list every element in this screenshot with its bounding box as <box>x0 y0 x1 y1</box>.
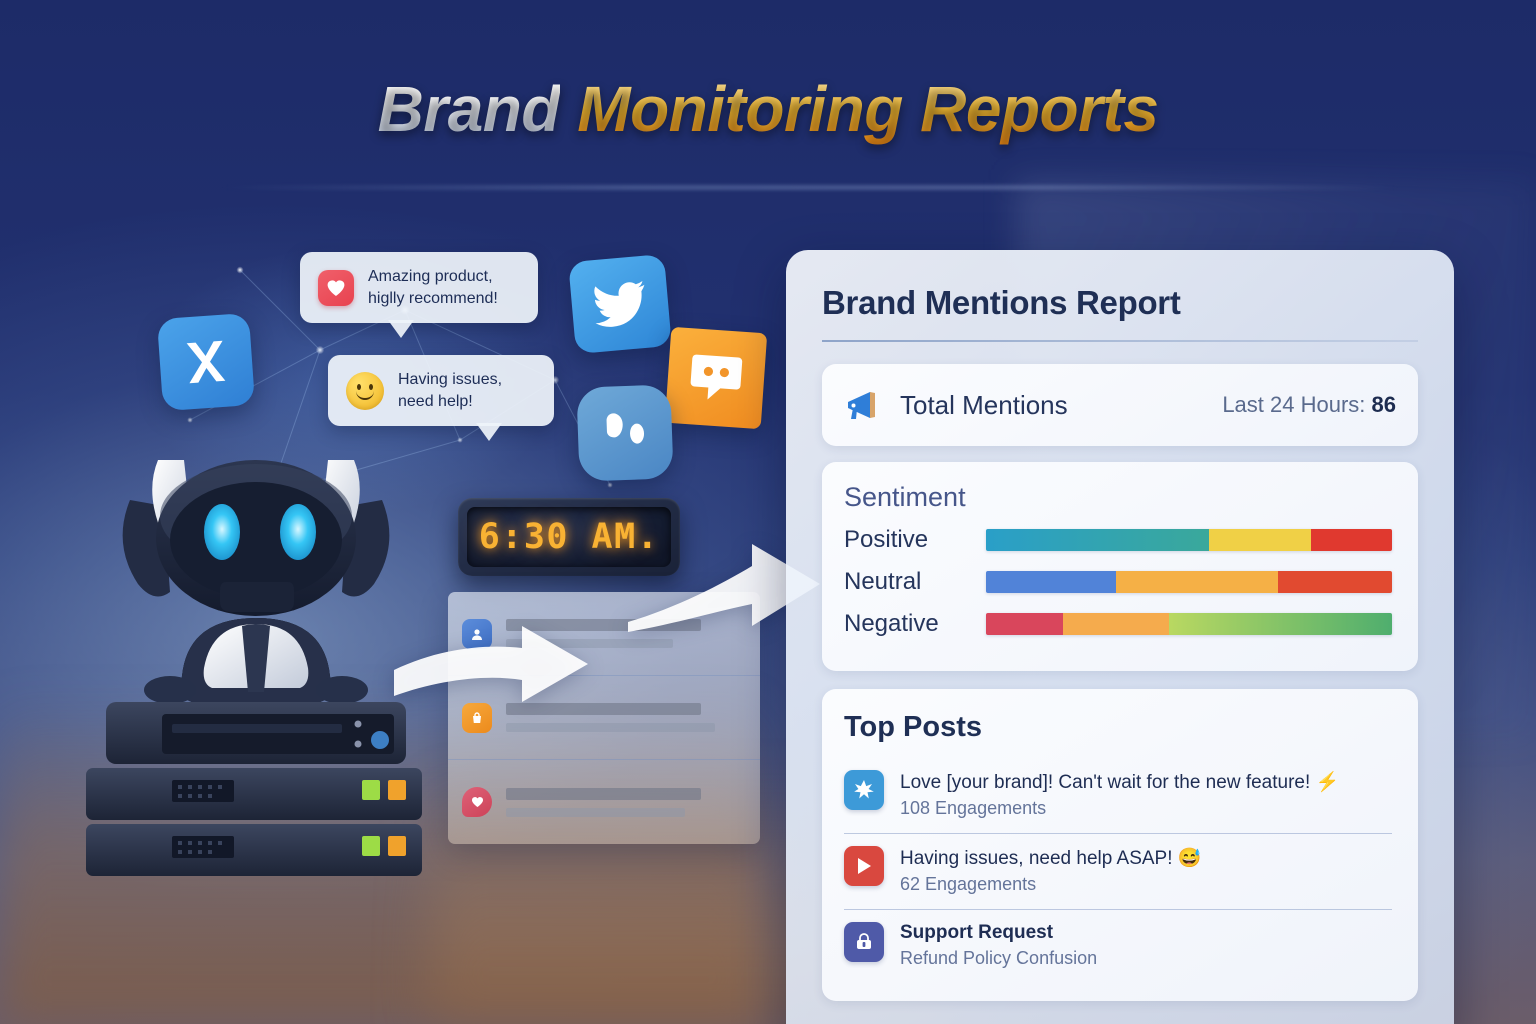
top-posts-card: Top Posts Love [your brand]! Can't wait … <box>822 689 1418 1001</box>
sentiment-bar-segment <box>1311 529 1392 551</box>
sentiment-bar-segment <box>1209 529 1311 551</box>
speech-bubble-issue: Having issues, need help! <box>328 355 554 426</box>
brand-mentions-report-panel: Brand Mentions Report Total Mentions Las… <box>786 250 1454 1024</box>
sentiment-label: Neutral <box>844 568 968 596</box>
feed-skeleton <box>506 788 744 817</box>
top-post-engagements: 108 Engagements <box>900 798 1339 819</box>
sentiment-bar <box>986 613 1392 635</box>
total-mentions-card[interactable]: Total Mentions Last 24 Hours: 86 <box>822 364 1418 446</box>
sentiment-label: Positive <box>844 526 968 554</box>
sentiment-bar-segment <box>986 613 1063 635</box>
play-icon <box>844 846 884 886</box>
heart-pin-icon <box>462 787 492 817</box>
x-social-icon[interactable] <box>157 313 255 411</box>
top-post-engagements: Refund Policy Confusion <box>900 948 1097 969</box>
total-mentions-value: Last 24 Hours: 86 <box>1222 392 1396 418</box>
support-icon <box>844 922 884 962</box>
sentiment-label: Negative <box>844 610 968 638</box>
sentiment-card: Sentiment PositiveNeutralNegative <box>822 462 1418 671</box>
sparkle-icon <box>844 770 884 810</box>
top-posts-list: Love [your brand]! Can't wait for the ne… <box>844 758 1392 983</box>
background-horizon-glow <box>220 186 1400 189</box>
top-post-engagements: 62 Engagements <box>900 874 1201 895</box>
sentiment-bar-segment <box>986 529 1209 551</box>
feed-row[interactable] <box>448 760 760 844</box>
bubble-tail <box>388 320 414 338</box>
top-post-text: Having issues, need help ASAP! 😅 <box>900 846 1201 870</box>
page-title-word-2: Monitoring Reports <box>577 73 1158 145</box>
messenger-icon <box>596 407 654 459</box>
twitter-bird-icon <box>590 278 650 331</box>
poster-canvas: Brand Monitoring Reports <box>0 0 1536 1024</box>
speech-bubble-positive: Amazing product, higlly recommend! <box>300 252 538 323</box>
total-mentions-count: 86 <box>1372 392 1396 417</box>
sentiment-bar-segment <box>986 571 1116 593</box>
heart-icon <box>318 270 354 306</box>
report-divider <box>822 340 1418 342</box>
robot-server-illustration <box>86 440 446 880</box>
chat-social-icon[interactable] <box>665 327 767 429</box>
bubble-tail <box>476 423 502 441</box>
smiley-icon <box>346 372 384 410</box>
sentiment-bar <box>986 571 1392 593</box>
page-title: Brand Monitoring Reports <box>0 72 1536 146</box>
sentiment-row-negative: Negative <box>844 603 1392 645</box>
top-post-row[interactable]: Support RequestRefund Policy Confusion <box>844 910 1392 983</box>
sentiment-rows: PositiveNeutralNegative <box>844 519 1392 645</box>
x-glyph-icon <box>178 334 234 390</box>
sentiment-bar-segment <box>1278 571 1392 593</box>
top-post-row[interactable]: Having issues, need help ASAP! 😅62 Engag… <box>844 834 1392 910</box>
top-post-body: Love [your brand]! Can't wait for the ne… <box>900 770 1339 819</box>
top-post-text: Love [your brand]! Can't wait for the ne… <box>900 770 1339 794</box>
sentiment-row-positive: Positive <box>844 519 1392 561</box>
speech-bubble-positive-text: Amazing product, higlly recommend! <box>368 266 498 309</box>
twitter-social-icon[interactable] <box>568 254 672 354</box>
megaphone-icon <box>844 388 884 422</box>
speech-bubble-issue-text: Having issues, need help! <box>398 369 502 412</box>
chat-bubble-icon <box>685 348 747 408</box>
sentiment-title: Sentiment <box>844 482 1392 513</box>
top-post-body: Support RequestRefund Policy Confusion <box>900 922 1097 969</box>
sentiment-bar <box>986 529 1392 551</box>
total-mentions-label: Total Mentions <box>900 390 1068 421</box>
top-post-row[interactable]: Love [your brand]! Can't wait for the ne… <box>844 758 1392 834</box>
messenger-social-icon[interactable] <box>576 384 673 481</box>
report-heading: Brand Mentions Report <box>822 284 1418 322</box>
top-post-body: Having issues, need help ASAP! 😅62 Engag… <box>900 846 1201 895</box>
sentiment-bar-segment <box>1063 613 1169 635</box>
sentiment-bar-segment <box>1116 571 1278 593</box>
sentiment-row-neutral: Neutral <box>844 561 1392 603</box>
top-posts-title: Top Posts <box>844 711 1392 744</box>
total-mentions-period: Last 24 Hours: <box>1222 392 1365 417</box>
page-title-word-1: Brand <box>378 73 560 145</box>
top-post-text: Support Request <box>900 922 1097 944</box>
sentiment-bar-segment <box>1169 613 1392 635</box>
